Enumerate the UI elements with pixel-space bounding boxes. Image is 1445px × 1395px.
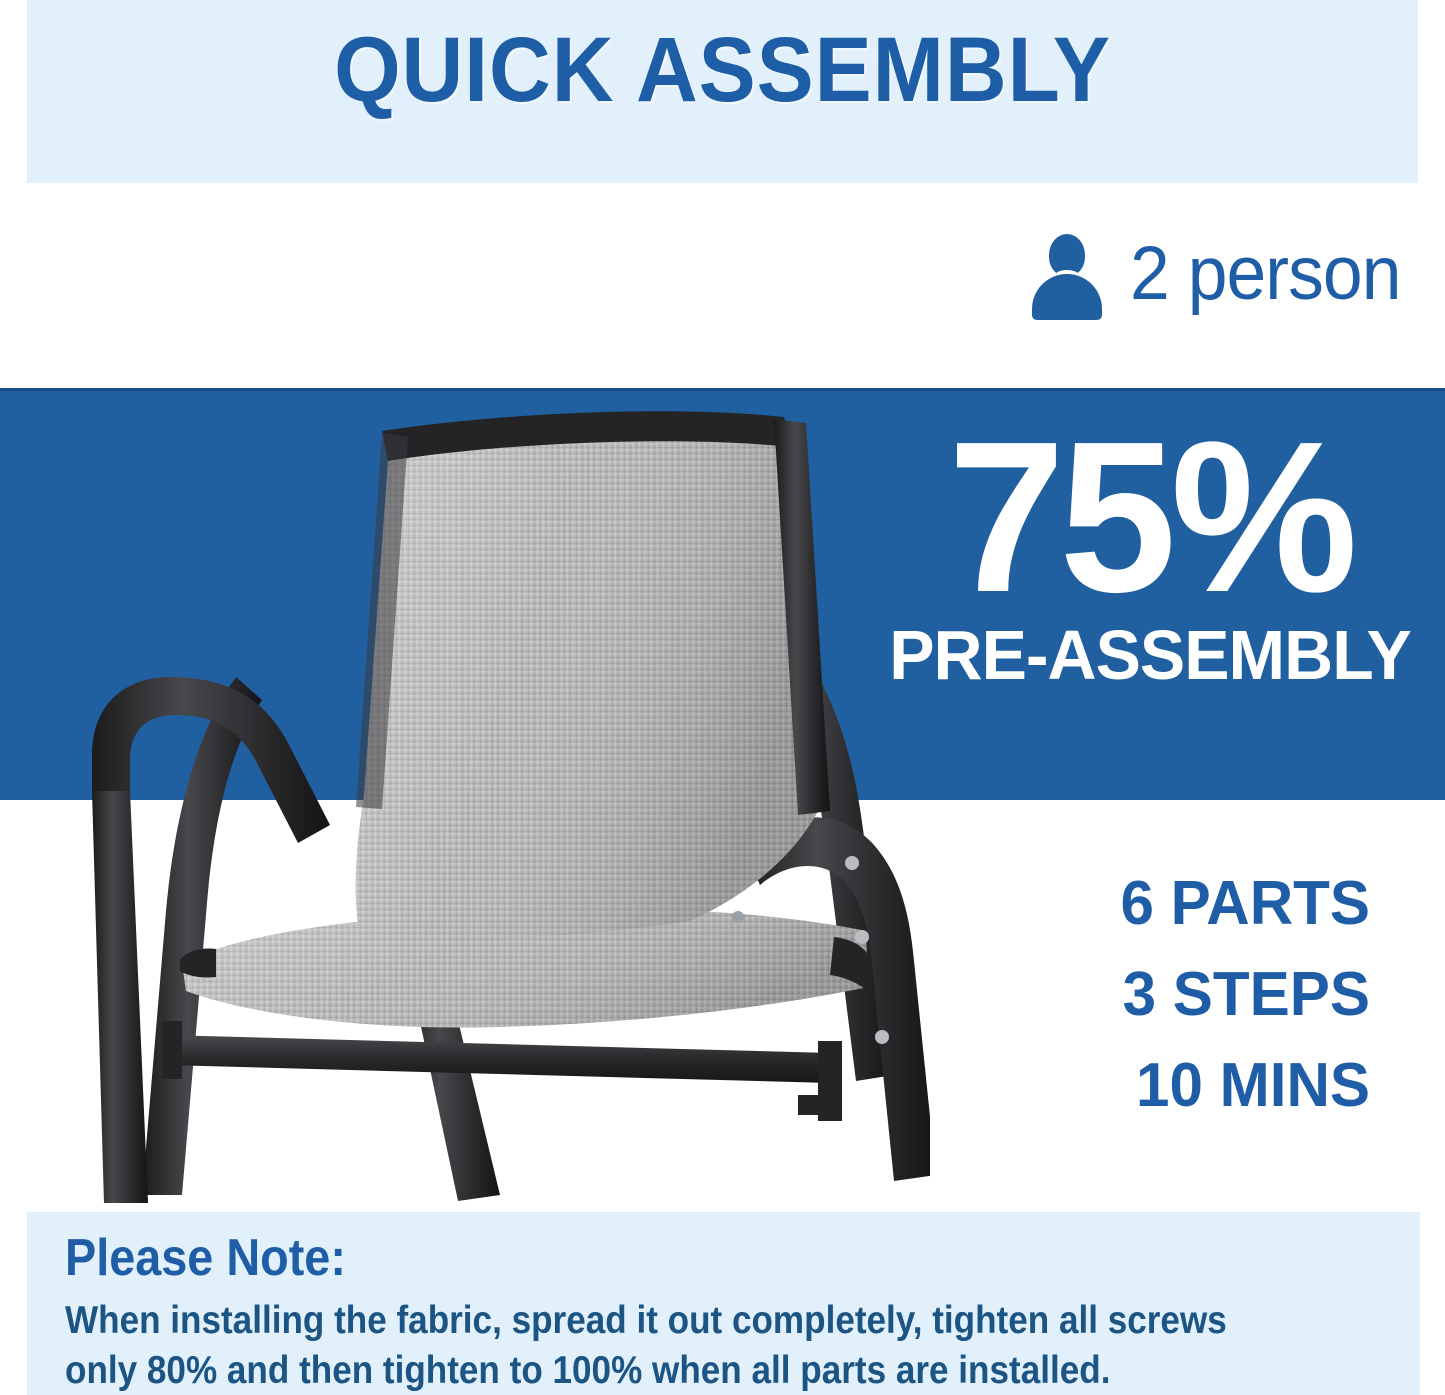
stat-steps: 3 STEPS — [992, 949, 1370, 1040]
page-title: QUICK ASSEMBLY — [76, 22, 1370, 119]
capacity-label: 2 person — [1130, 236, 1400, 312]
assembly-stats-list: 6 PARTS 3 STEPS 10 MINS — [980, 858, 1370, 1131]
capacity-row: 2 person — [1028, 228, 1418, 320]
stat-parts: 6 PARTS — [992, 858, 1370, 949]
infographic-canvas: QUICK ASSEMBLY — [0, 0, 1445, 1395]
stat-mins: 10 MINS — [992, 1040, 1370, 1131]
preassembly-label: PRE-ASSEMBLY — [888, 620, 1412, 690]
person-icon-body — [1032, 274, 1102, 320]
note-band: Please Note: When installing the fabric,… — [27, 1212, 1420, 1395]
product-chair-illustration — [30, 195, 930, 1205]
note-body: When installing the fabric, spread it ou… — [65, 1296, 1262, 1395]
header-band: QUICK ASSEMBLY — [27, 0, 1418, 183]
preassembly-percent: 75% — [885, 418, 1414, 616]
person-icon — [1028, 228, 1106, 320]
note-heading: Please Note: — [65, 1230, 346, 1287]
preassembly-block: 75% PRE-ASSEMBLY — [880, 418, 1420, 690]
